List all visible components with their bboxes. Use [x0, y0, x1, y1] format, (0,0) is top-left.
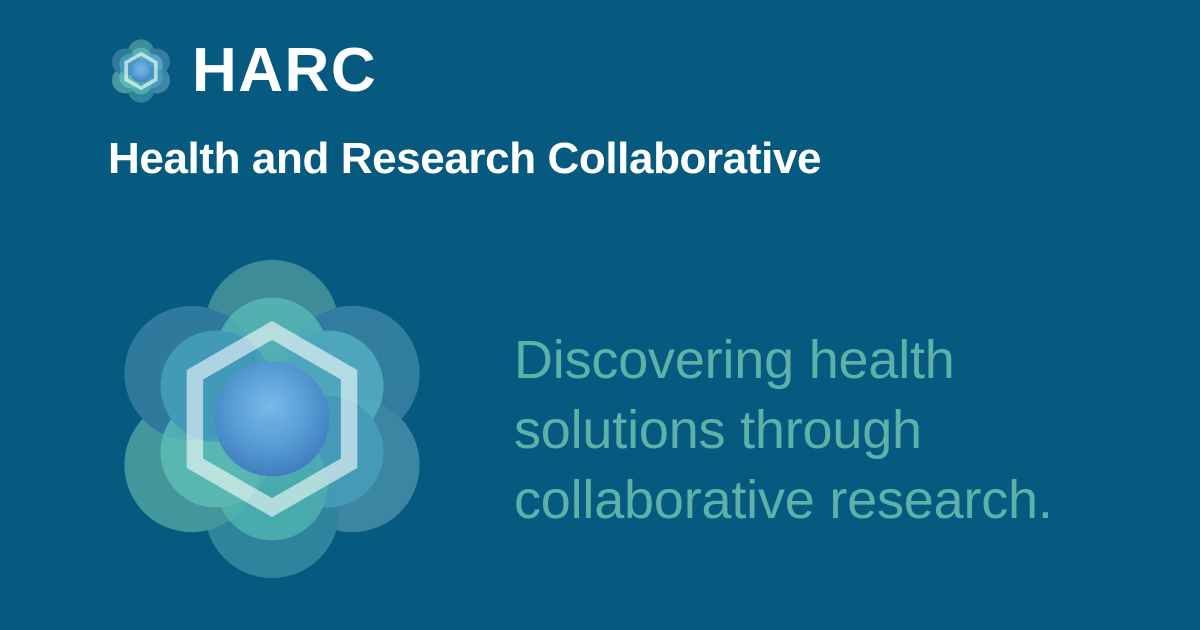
tagline: Discovering health solutions through col… — [514, 325, 1134, 536]
brand-subtitle: Health and Research Collaborative — [108, 134, 821, 183]
brand-lockup: HARC — [108, 38, 377, 104]
tagline-line-3: collaborative research. — [514, 465, 1134, 535]
harc-mandala-logo-icon — [108, 38, 174, 104]
tagline-line-2: solutions through — [514, 395, 1134, 465]
tagline-line-1: Discovering health — [514, 325, 1134, 395]
harc-wordmark: HARC — [192, 40, 377, 102]
og-card-canvas: HARC Health and Research Collaborative — [0, 0, 1200, 630]
